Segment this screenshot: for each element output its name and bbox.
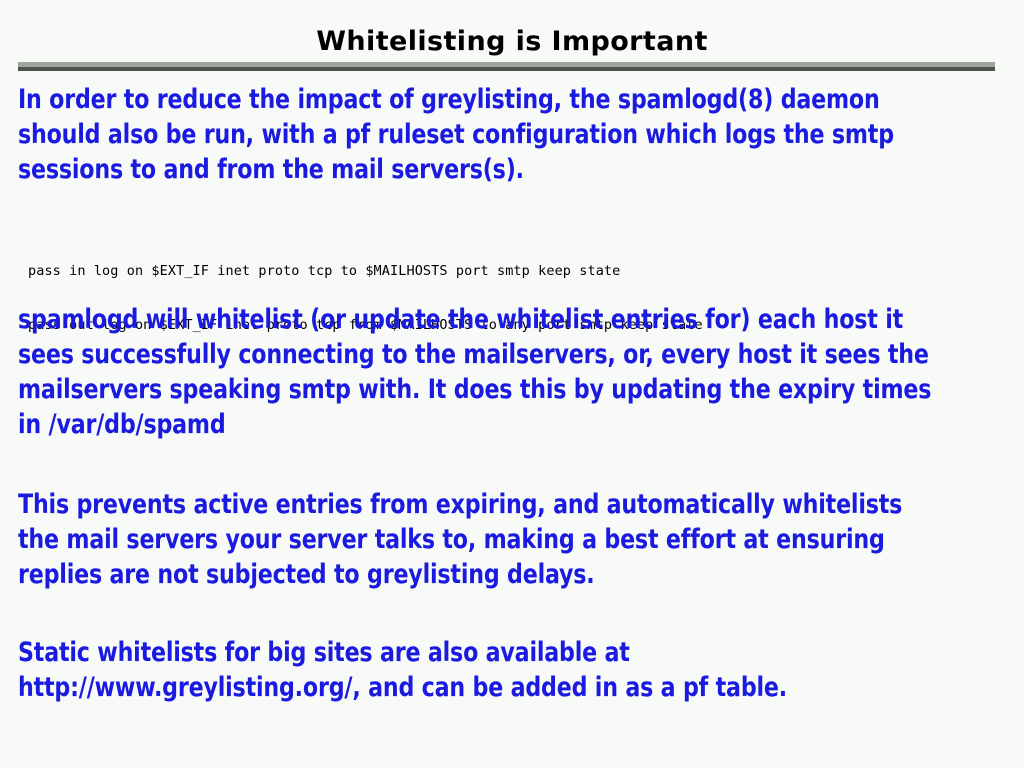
title-divider-rule [18,62,995,71]
paragraph-prevents-expiry: This prevents active entries from expiri… [18,487,934,592]
paragraph-static-whitelists: Static whitelists for big sites are also… [18,635,934,705]
presentation-slide: Whitelisting is Important In order to re… [0,0,1024,768]
paragraph-intro: In order to reduce the impact of greylis… [18,82,934,187]
divider-shadow-band [18,67,995,71]
paragraph-spamlogd-behaviour: spamlogd will whitelist (or update the w… [18,302,934,442]
code-line-pass-in: pass in log on $EXT_IF inet proto tcp to… [28,262,703,280]
page-title: Whitelisting is Important [0,26,1024,58]
